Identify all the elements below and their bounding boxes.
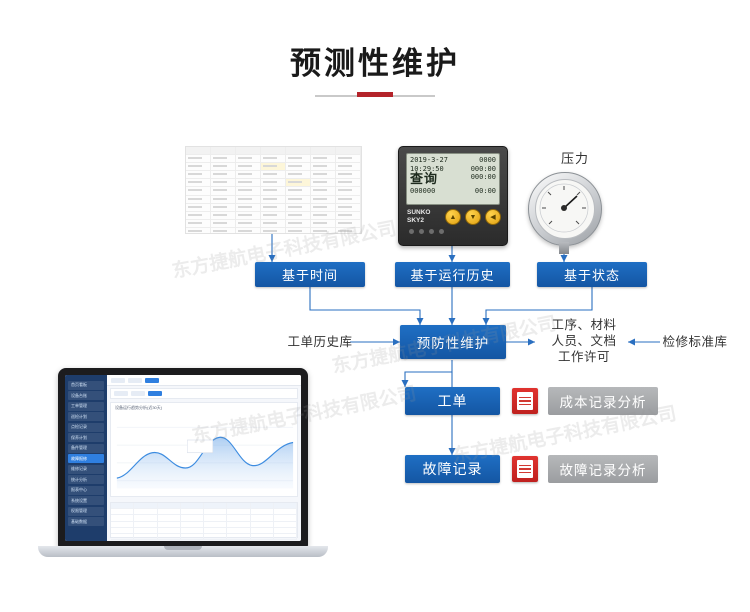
filter-chip-2[interactable] xyxy=(131,391,145,396)
meter-indicator-leds xyxy=(409,229,444,234)
pressure-gauge xyxy=(528,172,600,244)
output-result-cost-analysis[interactable]: 成本记录分析 xyxy=(548,387,658,415)
meter-brand-line1: SUNKO xyxy=(407,209,430,217)
red-book-icon-1 xyxy=(512,388,538,414)
gauge-label: 压力 xyxy=(540,148,610,167)
preventive-maintenance-box[interactable]: 预防性维护 xyxy=(400,325,506,359)
led-1 xyxy=(409,229,414,234)
trend-card-title: 设备运行趋势分析(近30天) xyxy=(115,405,162,411)
meter-col1: 0000 xyxy=(479,156,496,165)
laptop-notch xyxy=(164,546,202,550)
meter-up-button[interactable]: ▲ xyxy=(445,209,461,225)
led-4 xyxy=(439,229,444,234)
meter-row4: 000000 xyxy=(410,187,435,196)
book-line xyxy=(519,404,531,406)
gauge-needle-graphics xyxy=(528,172,600,244)
dashboard-main: 设备运行趋势分析(近30天) xyxy=(107,375,301,541)
meter-brand-line2: SKY2 xyxy=(407,217,430,225)
strategy-box-runtime-history[interactable]: 基于运行历史 xyxy=(395,262,510,287)
dashboard-screen: 首页看板 设备台账 工单管理 巡检计划 点检记录 保养计划 备件管理 故障报修 … xyxy=(65,375,301,541)
resources-line-3: 工作许可 xyxy=(539,349,629,365)
dashboard-data-table xyxy=(110,502,298,538)
meter-mode-label: 查询 xyxy=(410,173,438,187)
maintenance-records-spreadsheet xyxy=(185,146,362,234)
topbar-chip-2[interactable] xyxy=(128,378,142,383)
sidebar-item-2[interactable]: 工单管理 xyxy=(68,402,104,411)
dashboard-trend-card: 设备运行趋势分析(近30天) xyxy=(110,402,298,497)
resources-line-1: 工序、材料 xyxy=(539,317,629,333)
workorder-history-library-label: 工单历史库 xyxy=(285,334,355,350)
gauge-stem xyxy=(559,242,569,254)
strategy-box-time[interactable]: 基于时间 xyxy=(255,262,365,287)
sidebar-item-8[interactable]: 维修记录 xyxy=(68,465,104,474)
topbar-chip-active[interactable] xyxy=(145,378,159,383)
sidebar-item-1[interactable]: 设备台账 xyxy=(68,391,104,400)
sidebar-item-13[interactable]: 基础数据 xyxy=(68,517,104,526)
meter-button-group[interactable]: ▲ ▼ ◀ xyxy=(445,209,501,225)
book-line xyxy=(519,468,531,470)
sidebar-item-9[interactable]: 统计分析 xyxy=(68,475,104,484)
sidebar-item-10[interactable]: 报表中心 xyxy=(68,486,104,495)
book-line xyxy=(519,397,531,399)
meter-back-button[interactable]: ◀ xyxy=(485,209,501,225)
trend-chart xyxy=(111,412,297,496)
book-line xyxy=(519,465,531,467)
sidebar-item-7[interactable]: 故障报修 xyxy=(68,454,104,463)
sidebar-item-12[interactable]: 权限管理 xyxy=(68,507,104,516)
meter-down-button[interactable]: ▼ xyxy=(465,209,481,225)
filter-search-button[interactable] xyxy=(148,391,162,396)
meter-brand: SUNKO SKY2 xyxy=(407,209,430,224)
sidebar-item-3[interactable]: 巡检计划 xyxy=(68,412,104,421)
book-line xyxy=(519,400,531,402)
book-line xyxy=(519,472,531,474)
book-inner-1 xyxy=(517,392,533,410)
sidebar-item-6[interactable]: 备件管理 xyxy=(68,444,104,453)
resources-line-2: 人员、文档 xyxy=(539,333,629,349)
output-source-workorder[interactable]: 工单 xyxy=(405,387,500,415)
meter-date: 2019-3-27 xyxy=(410,156,448,165)
meter-col2: 000:00 xyxy=(471,165,496,174)
sidebar-item-11[interactable]: 系统设置 xyxy=(68,496,104,505)
led-2 xyxy=(419,229,424,234)
laptop-lid: 首页看板 设备台账 工单管理 巡检计划 点检记录 保养计划 备件管理 故障报修 … xyxy=(58,368,308,548)
laptop-mockup: 首页看板 设备台账 工单管理 巡检计划 点检记录 保养计划 备件管理 故障报修 … xyxy=(38,368,328,578)
filter-chip-1[interactable] xyxy=(114,391,128,396)
inspection-standard-library-label: 检修标准库 xyxy=(655,334,735,350)
digital-meter-device: 2019-3-27 0000 10:29:50 000:00 查询 000:00… xyxy=(398,146,508,246)
output-source-fault-record[interactable]: 故障记录 xyxy=(405,455,500,483)
meter-display: 2019-3-27 0000 10:29:50 000:00 查询 000:00… xyxy=(406,153,500,205)
sidebar-item-0[interactable]: 首页看板 xyxy=(68,381,104,390)
sidebar-item-5[interactable]: 保养计划 xyxy=(68,433,104,442)
dashboard-filter-toolbar[interactable] xyxy=(110,388,298,399)
strategy-box-condition[interactable]: 基于状态 xyxy=(537,262,647,287)
diagram-canvas: 预测性维护 xyxy=(0,0,750,612)
dashboard-topbar xyxy=(107,375,301,386)
output-result-fault-analysis[interactable]: 故障记录分析 xyxy=(548,455,658,483)
led-3 xyxy=(429,229,434,234)
meter-col4: 00:00 xyxy=(475,187,496,196)
topbar-chip-1[interactable] xyxy=(111,378,125,383)
book-inner-2 xyxy=(517,460,533,478)
dashboard-sidebar[interactable]: 首页看板 设备台账 工单管理 巡检计划 点检记录 保养计划 备件管理 故障报修 … xyxy=(65,375,107,541)
resources-label: 工序、材料 人员、文档 工作许可 xyxy=(539,317,629,365)
sidebar-item-4[interactable]: 点检记录 xyxy=(68,423,104,432)
red-book-icon-2 xyxy=(512,456,538,482)
meter-col3: 000:00 xyxy=(471,173,496,187)
